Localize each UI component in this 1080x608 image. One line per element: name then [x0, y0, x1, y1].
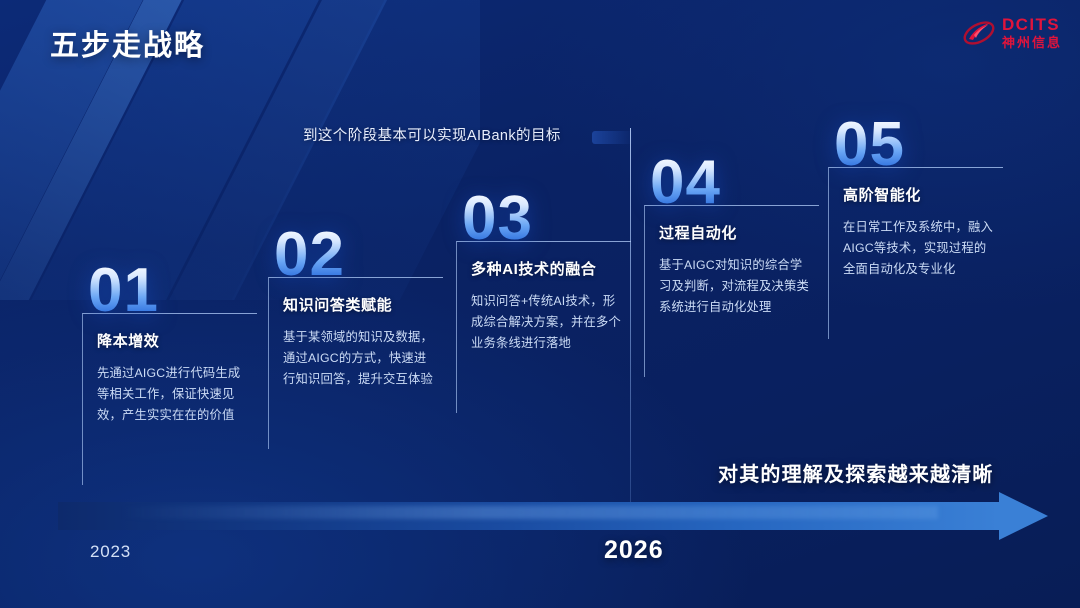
step-title: 过程自动化 — [659, 222, 811, 243]
step-body: 知识问答+传统AI技术，形成综合解决方案，并在多个业务条线进行落地 — [471, 291, 623, 354]
step-title: 高阶智能化 — [843, 184, 995, 205]
step-number: 05 — [834, 116, 1003, 173]
step-body: 基于AIGC对知识的综合学习及判断，对流程及决策类系统进行自动化处理 — [659, 255, 811, 318]
slide-canvas: 五步走战略 DCITS 神州信息 到这个阶段基本可以实现AIBank的目标 01… — [0, 0, 1080, 608]
timeline-year-end: 2026 — [604, 536, 664, 565]
step-card-02[interactable]: 02 知识问答类赋能 基于某领域的知识及数据，通过AIGC的方式，快速进行知识回… — [268, 226, 443, 449]
brand-logo: DCITS 神州信息 — [962, 16, 1062, 49]
step-card-05[interactable]: 05 高阶智能化 在日常工作及系统中，融入AIGC等技术，实现过程的全面自动化及… — [828, 116, 1003, 339]
swoosh-icon — [962, 18, 996, 48]
timeline-arrow-gloss — [118, 506, 938, 519]
step-body: 在日常工作及系统中，融入AIGC等技术，实现过程的全面自动化及专业化 — [843, 217, 995, 280]
step-number: 02 — [274, 226, 443, 283]
annotation-text: 到这个阶段基本可以实现AIBank的目标 — [303, 124, 561, 145]
timeline-year-start: 2023 — [90, 542, 131, 562]
step-content: 过程自动化 基于AIGC对知识的综合学习及判断，对流程及决策类系统进行自动化处理 — [644, 205, 819, 377]
logo-en-text: DCITS — [1002, 16, 1062, 33]
step-title: 知识问答类赋能 — [283, 294, 435, 315]
step-card-03[interactable]: 03 多种AI技术的融合 知识问答+传统AI技术，形成综合解决方案，并在多个业务… — [456, 190, 631, 413]
step-body: 基于某领域的知识及数据，通过AIGC的方式，快速进行知识回答，提升交互体验 — [283, 327, 435, 390]
annotation-decoration — [592, 131, 634, 144]
step-content: 高阶智能化 在日常工作及系统中，融入AIGC等技术，实现过程的全面自动化及专业化 — [828, 167, 1003, 339]
step-number: 03 — [462, 190, 631, 247]
step-content: 降本增效 先通过AIGC进行代码生成等相关工作，保证快速见效，产生实实在在的价值 — [82, 313, 257, 485]
step-content: 多种AI技术的融合 知识问答+传统AI技术，形成综合解决方案，并在多个业务条线进… — [456, 241, 631, 413]
page-title: 五步走战略 — [50, 22, 205, 64]
step-title: 多种AI技术的融合 — [471, 258, 623, 279]
step-number: 01 — [88, 262, 257, 319]
timeline-tagline: 对其的理解及探索越来越清晰 — [718, 458, 994, 487]
step-content: 知识问答类赋能 基于某领域的知识及数据，通过AIGC的方式，快速进行知识回答，提… — [268, 277, 443, 449]
step-number: 04 — [650, 154, 819, 211]
step-card-01[interactable]: 01 降本增效 先通过AIGC进行代码生成等相关工作，保证快速见效，产生实实在在… — [82, 262, 257, 485]
logo-wordmark: DCITS 神州信息 — [1002, 16, 1062, 49]
logo-cn-text: 神州信息 — [1002, 36, 1062, 49]
timeline-arrow — [58, 496, 1048, 536]
step-card-04[interactable]: 04 过程自动化 基于AIGC对知识的综合学习及判断，对流程及决策类系统进行自动… — [644, 154, 819, 377]
timeline-arrow-head — [999, 492, 1048, 540]
step-body: 先通过AIGC进行代码生成等相关工作，保证快速见效，产生实实在在的价值 — [97, 363, 249, 426]
step-title: 降本增效 — [97, 330, 249, 351]
